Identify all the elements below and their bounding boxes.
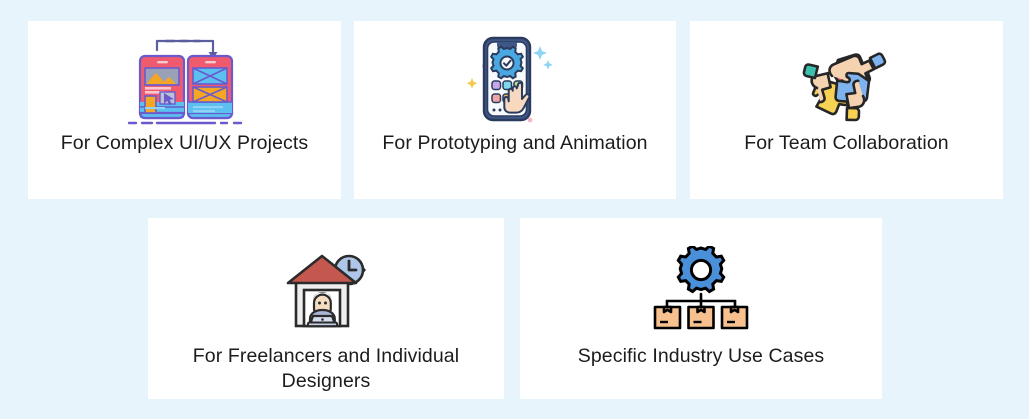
- card-label: For Freelancers and Individual Designers: [162, 344, 490, 394]
- phone-gear-tap-icon: [354, 21, 676, 131]
- hands-puzzle-pieces-icon: [690, 21, 1003, 131]
- home-office-clock-icon: [148, 218, 504, 344]
- card-freelancers-and-individual-designers[interactable]: For Freelancers and Individual Designers: [148, 218, 504, 399]
- card-complex-ui-ux-projects[interactable]: For Complex UI/UX Projects: [28, 21, 341, 199]
- card-specific-industry-use-cases[interactable]: Specific Industry Use Cases: [520, 218, 882, 399]
- use-case-card-grid: For Complex UI/UX Projects: [0, 0, 1029, 419]
- ui-ux-wireframe-screens-icon: [28, 21, 341, 131]
- card-label: For Prototyping and Animation: [367, 131, 663, 156]
- card-prototyping-and-animation[interactable]: For Prototyping and Animation: [354, 21, 676, 199]
- gear-boxes-hierarchy-icon: [520, 218, 882, 344]
- card-label: Specific Industry Use Cases: [534, 344, 867, 369]
- card-label: For Team Collaboration: [703, 131, 991, 156]
- card-team-collaboration[interactable]: For Team Collaboration: [690, 21, 1003, 199]
- card-label: For Complex UI/UX Projects: [41, 131, 329, 156]
